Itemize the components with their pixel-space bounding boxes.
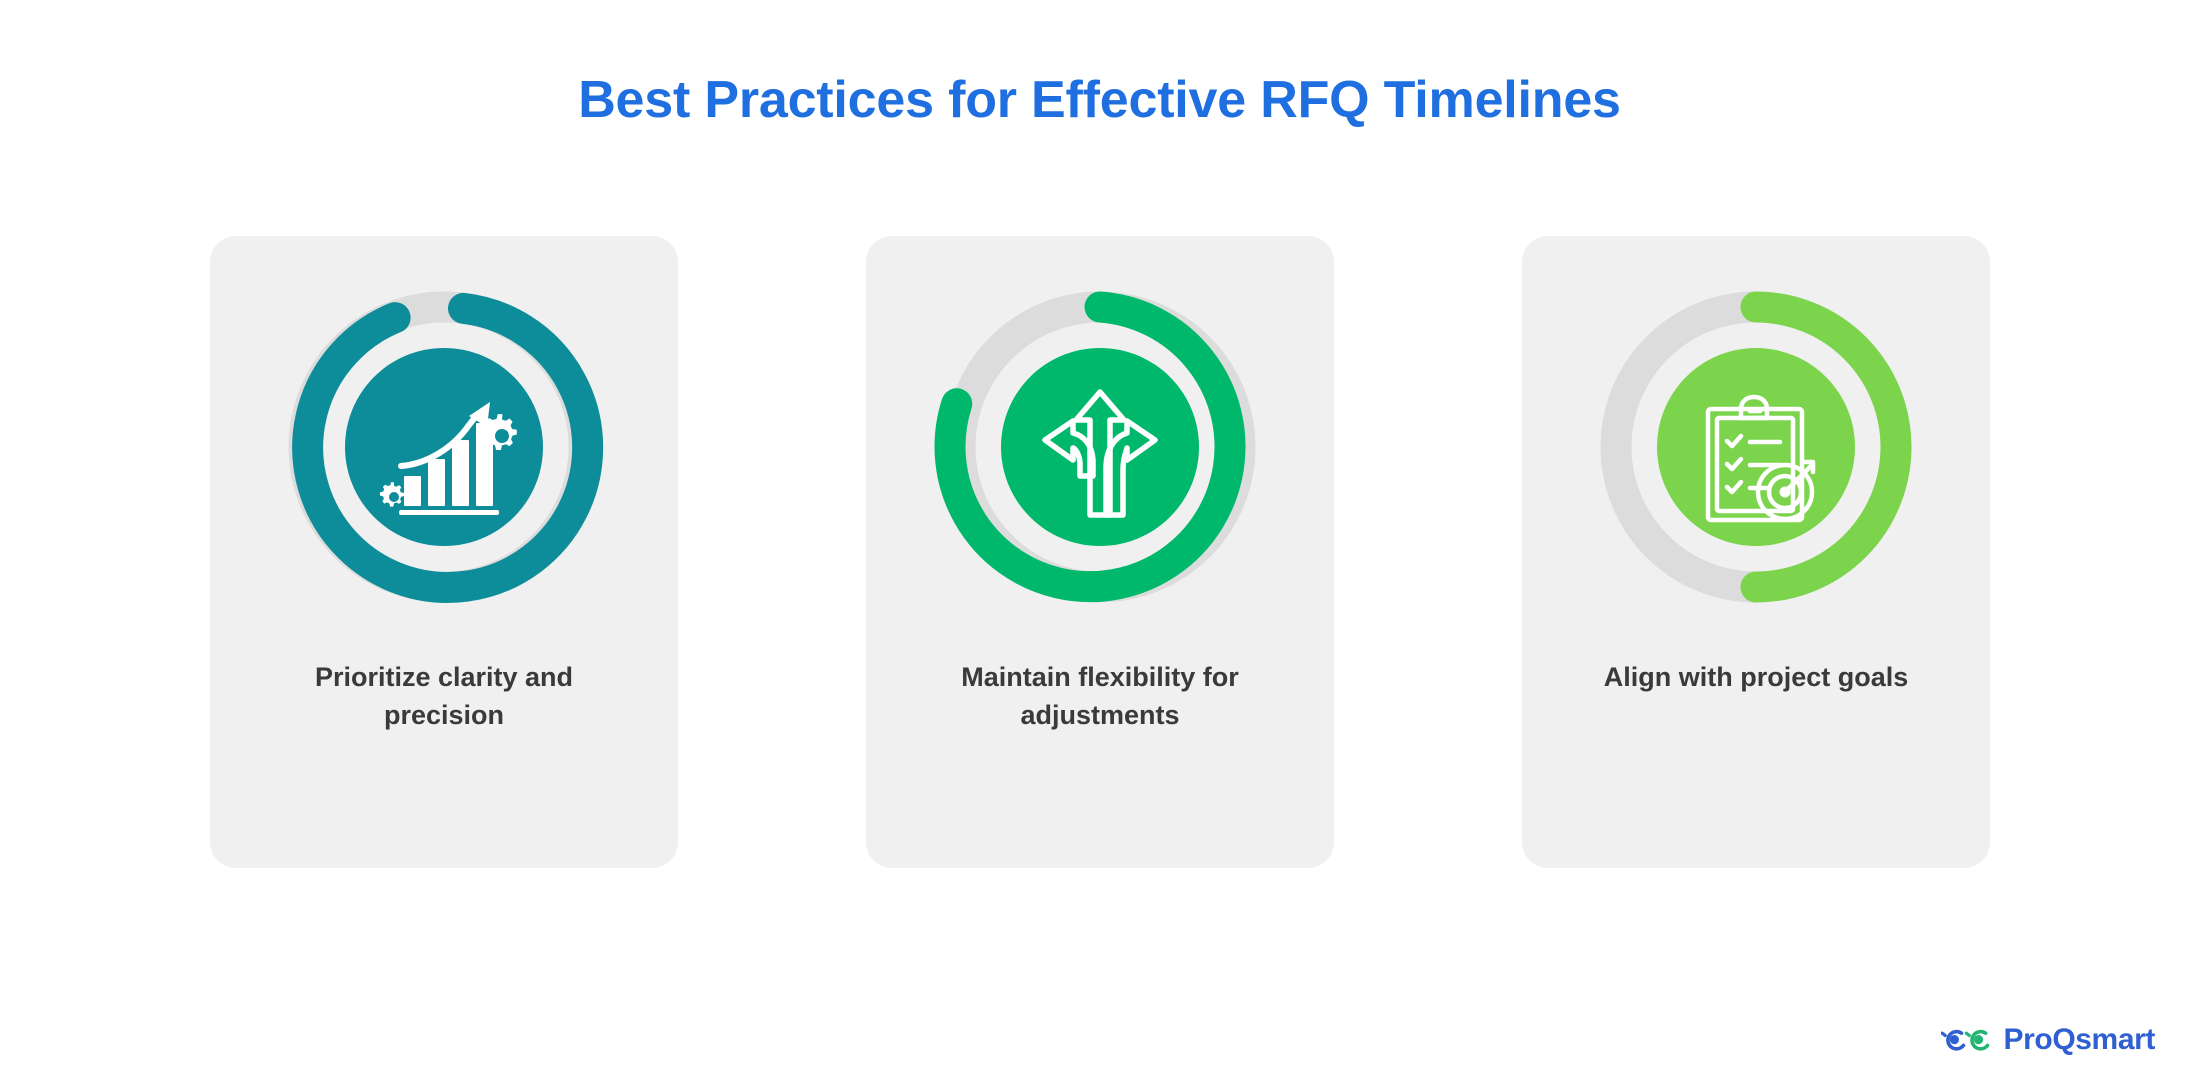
card-label-prioritize-clarity: Prioritize clarity and precision [254,658,634,735]
card-label-maintain-flexibility: Maintain flexibility for adjustments [910,658,1290,735]
card-prioritize-clarity[interactable]: Prioritize clarity and precision [210,236,678,868]
donut-chart-prioritize-clarity [277,280,611,614]
proqsmart-logo[interactable]: ProQsmart [1941,1020,2155,1060]
card-align-project-goals[interactable]: Align with project goals [1522,236,1990,868]
card-maintain-flexibility[interactable]: Maintain flexibility for adjustments [866,236,1334,868]
donut-chart-align-project-goals [1589,280,1923,614]
donut-inner-circle [1657,348,1855,546]
logo-text: ProQsmart [2004,1025,2155,1055]
page-title: Best Practices for Effective RFQ Timelin… [0,72,2199,129]
card-label-align-project-goals: Align with project goals [1566,658,1946,696]
donut-chart-maintain-flexibility [933,280,1267,614]
proqsmart-logo-mark [1941,1025,1995,1055]
cards-row: Prioritize clarity and precision [210,236,1990,868]
infographic-page: Best Practices for Effective RFQ Timelin… [0,0,2199,1080]
